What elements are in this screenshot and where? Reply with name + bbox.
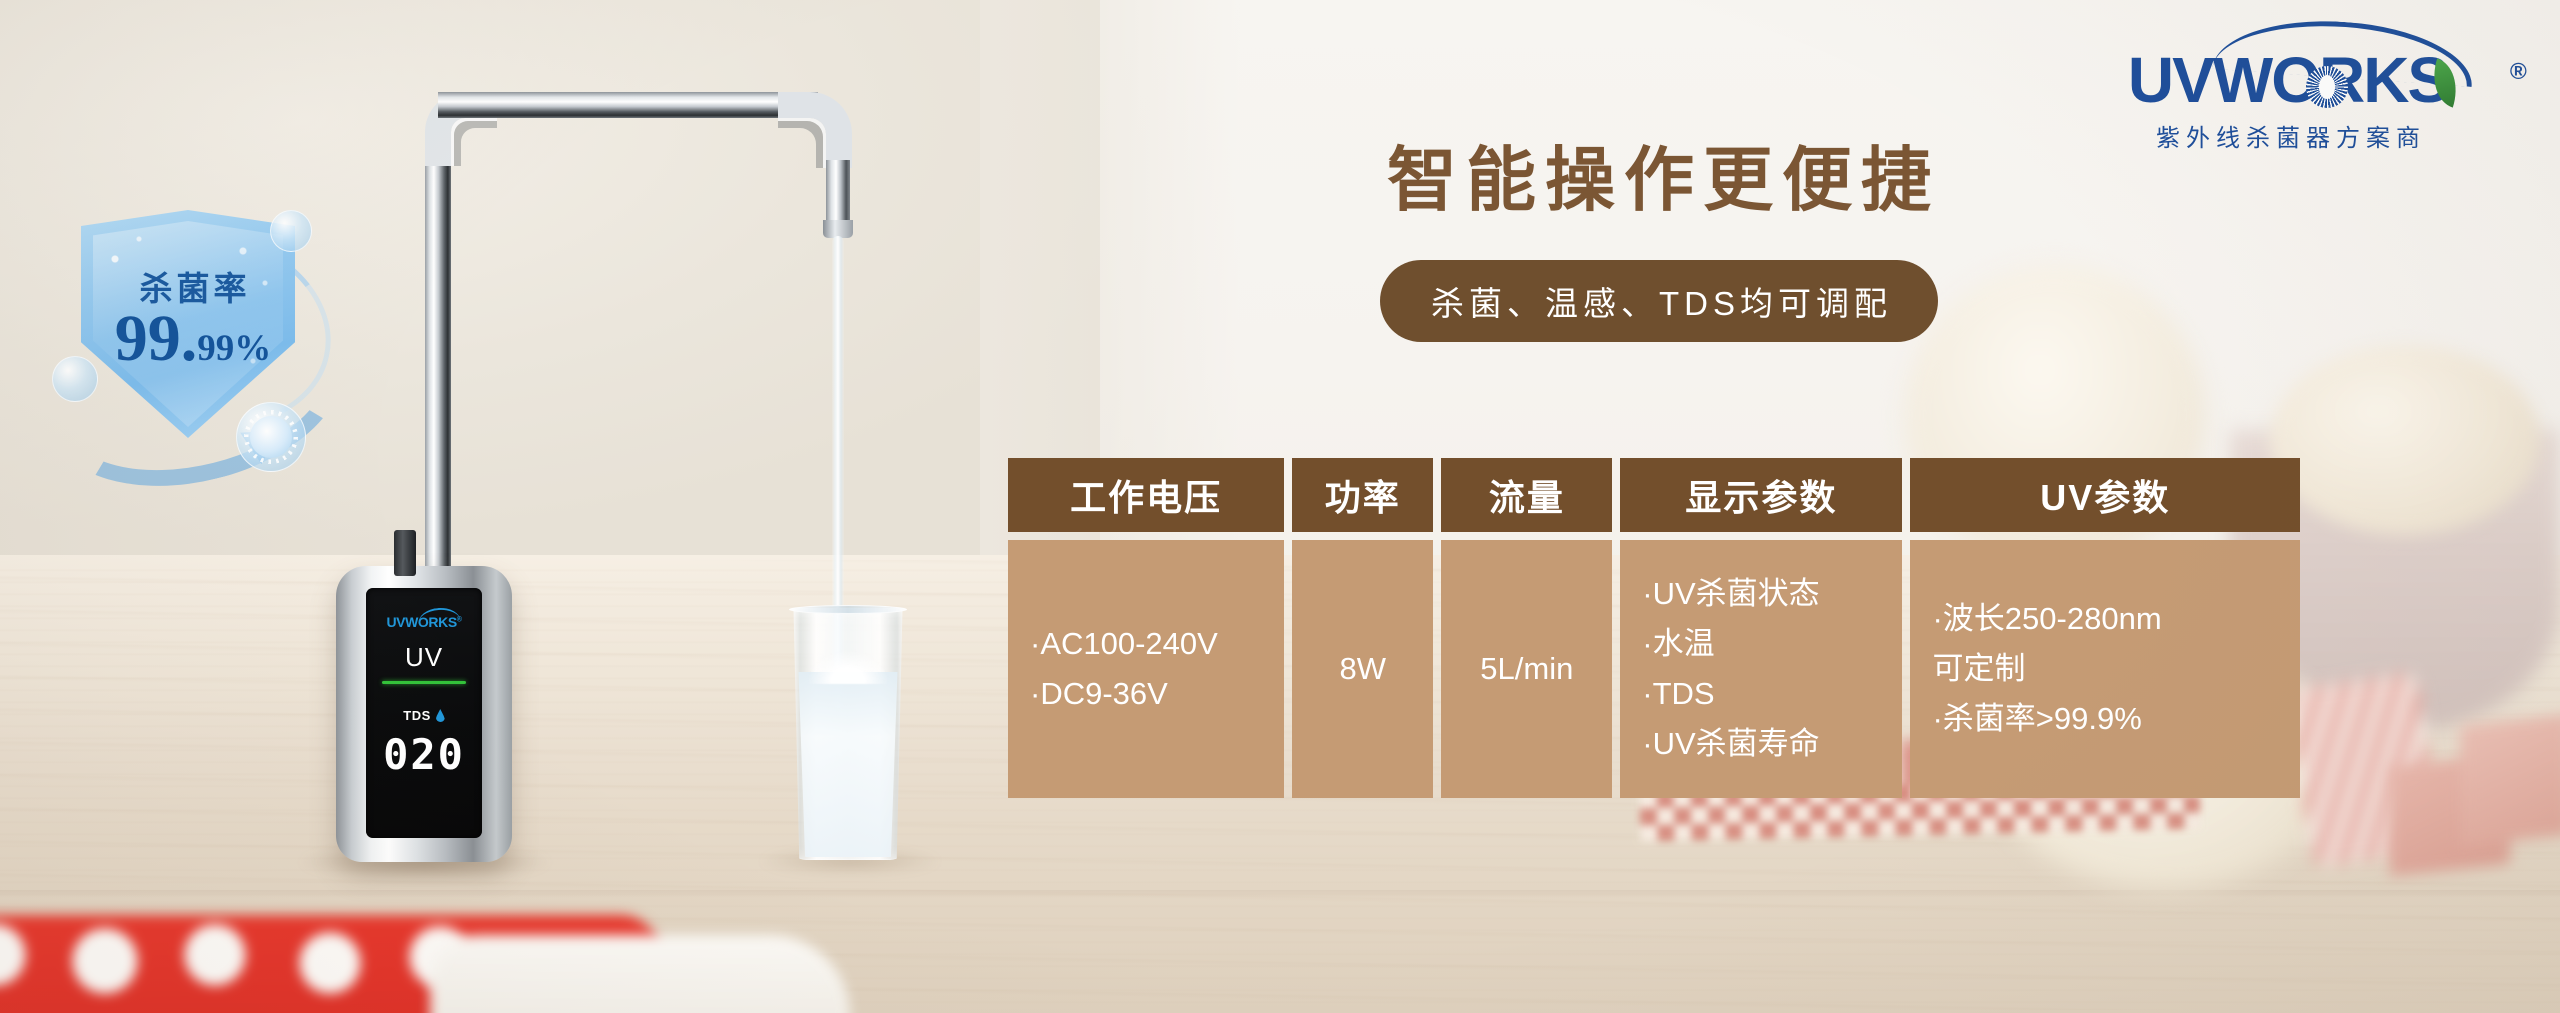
- water-drop-icon: [436, 709, 445, 722]
- spec-line: ·杀菌率>99.9%: [1932, 694, 2141, 744]
- spec-column-uv: UV参数 ·波长250-280nm 可定制 ·杀菌率>99.9%: [1910, 458, 2300, 798]
- spec-line: ·TDS: [1642, 669, 1714, 719]
- spec-body-uv: ·波长250-280nm 可定制 ·杀菌率>99.9%: [1910, 540, 2300, 798]
- spec-column-voltage: 工作电压 ·AC100-240V ·DC9-36V: [1008, 458, 1284, 798]
- spec-body-display: ·UV杀菌状态 ·水温 ·TDS ·UV杀菌寿命: [1620, 540, 1902, 798]
- faucet-arm: [438, 92, 818, 118]
- product-banner: UVWORKS® UV TDS 020 杀菌率 99.99% UVWORK: [0, 0, 2560, 1013]
- bubble-icon: [270, 210, 312, 252]
- device-logo-text: UVWORKS: [386, 614, 456, 630]
- chrome-faucet: [380, 60, 880, 620]
- sterilization-rate-badge: 杀菌率 99.99%: [48, 188, 338, 478]
- spec-column-flow: 流量 5L/min: [1441, 458, 1612, 798]
- white-bowl-icon: [430, 935, 850, 1013]
- brand-logo-subtitle: 紫外线杀菌器方案商: [2078, 118, 2498, 153]
- glass-water-fill: [793, 672, 903, 857]
- badge-value-major: 99: [115, 302, 181, 375]
- device-tds-row: TDS: [366, 708, 482, 723]
- device-display-screen: UVWORKS® UV TDS 020: [366, 588, 482, 838]
- yarn-ball-top-icon: [2270, 345, 2540, 535]
- pink-block-secondary-icon: [2460, 714, 2560, 846]
- spec-line: ·DC9-36V: [1030, 669, 1168, 719]
- device-brand-logo: UVWORKS®: [366, 614, 482, 630]
- spec-line: ·AC100-240V: [1030, 619, 1218, 669]
- spec-line: ·UV杀菌状态: [1642, 569, 1819, 619]
- faucet-corner-right: [778, 92, 852, 168]
- spec-body-voltage: ·AC100-240V ·DC9-36V: [1008, 540, 1284, 798]
- spec-table: 工作电压 ·AC100-240V ·DC9-36V 功率 8W 流量 5L/mi…: [1008, 458, 2300, 798]
- spec-column-display: 显示参数 ·UV杀菌状态 ·水温 ·TDS ·UV杀菌寿命: [1620, 458, 1902, 798]
- spec-line: ·UV杀菌寿命: [1642, 719, 1819, 769]
- spec-line: ·水温: [1642, 619, 1714, 669]
- spec-line: 可定制: [1932, 644, 2025, 694]
- spec-header-voltage: 工作电压: [1008, 458, 1284, 532]
- spec-header-power: 功率: [1292, 458, 1433, 532]
- brand-logo-text: UVWORKS: [2128, 44, 2448, 116]
- spec-column-power: 功率 8W: [1292, 458, 1433, 798]
- uv-sterilizer-device: UVWORKS® UV TDS 020: [336, 566, 512, 862]
- registered-mark: ®: [2510, 60, 2525, 83]
- sunburst-icon: [2306, 66, 2348, 108]
- page-title: 智能操作更便捷: [1378, 124, 1998, 225]
- germ-icon: [250, 416, 292, 458]
- water-splash-icon: [808, 650, 888, 684]
- brand-logo-wordmark: UVWORKS ®: [2128, 48, 2448, 112]
- spec-header-flow: 流量: [1441, 458, 1612, 532]
- device-tds-label: TDS: [403, 708, 431, 723]
- spec-header-uv: UV参数: [1910, 458, 2300, 532]
- badge-value-minor: 99%: [197, 328, 271, 369]
- device-logo-registered: ®: [457, 616, 462, 623]
- faucet-downspout: [826, 160, 850, 228]
- device-tds-value: 020: [366, 734, 482, 776]
- badge-value-dot: .: [181, 302, 198, 375]
- brand-logo: UVWORKS ® 紫外线杀菌器方案商: [2078, 48, 2498, 153]
- device-stem: [394, 530, 416, 576]
- spec-body-power: 8W: [1292, 540, 1433, 798]
- spec-body-flow: 5L/min: [1441, 540, 1612, 798]
- countertop-edge: [0, 890, 2560, 898]
- bubble-icon-2: [52, 356, 98, 402]
- spec-line: 5L/min: [1480, 644, 1573, 694]
- spec-header-display: 显示参数: [1620, 458, 1902, 532]
- spec-line: ·波长250-280nm: [1932, 594, 2161, 644]
- device-mode-label: UV: [366, 642, 482, 673]
- subtitle-badge: 杀菌、温感、TDS均可调配: [1380, 260, 1938, 342]
- glass-rim: [789, 605, 907, 614]
- spec-line: 8W: [1340, 644, 1387, 694]
- device-status-line: [382, 681, 466, 684]
